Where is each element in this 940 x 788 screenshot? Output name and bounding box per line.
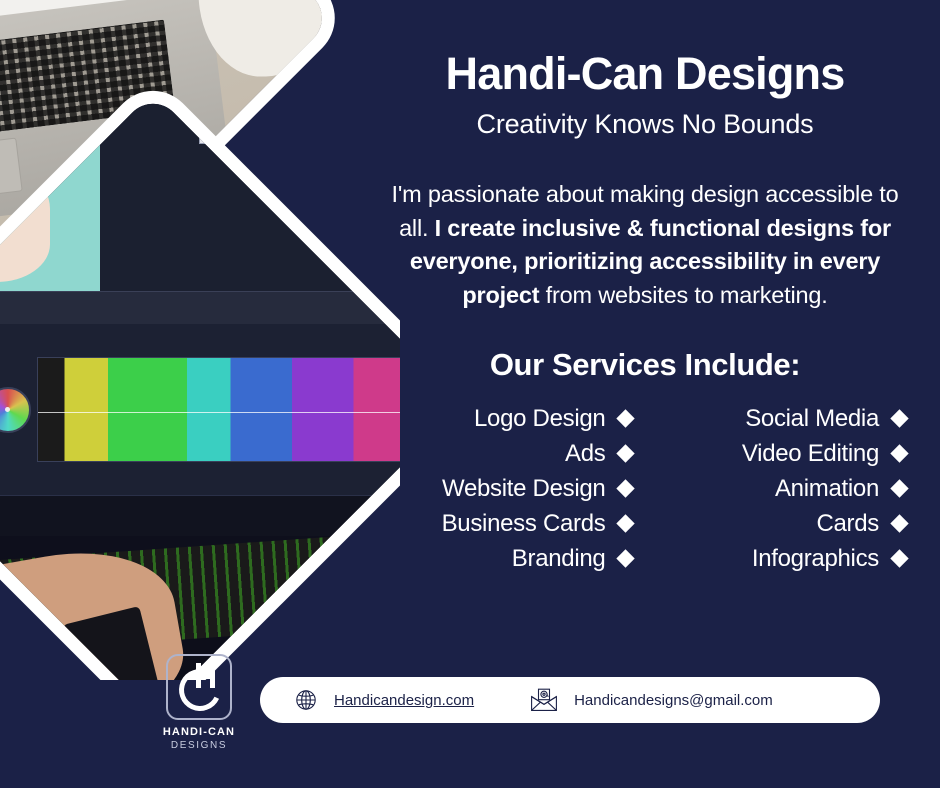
service-item: Cards: [654, 510, 906, 538]
service-item: Video Editing: [654, 440, 906, 468]
page-title: Handi-Can Designs: [380, 50, 910, 97]
service-item: Logo Design: [380, 405, 632, 433]
diamond-bullet-icon: [890, 479, 908, 497]
service-label: Website Design: [442, 475, 605, 503]
contact-website[interactable]: Handicandesign.com: [294, 688, 474, 712]
service-label: Business Cards: [442, 510, 606, 538]
service-label: Ads: [565, 440, 605, 468]
service-item: Website Design: [380, 475, 632, 503]
service-label: Cards: [816, 510, 879, 538]
service-item: Infographics: [654, 545, 906, 573]
diamond-bullet-icon: [617, 409, 635, 427]
logo-monogram-icon: [166, 654, 232, 720]
photo-collage: [0, 0, 400, 680]
diamond-bullet-icon: [890, 409, 908, 427]
service-label: Social Media: [745, 405, 879, 433]
services-right-column: Social Media Video Editing Animation Car…: [654, 405, 906, 573]
service-label: Branding: [512, 545, 606, 573]
intro-paragraph: I'm passionate about making design acces…: [390, 178, 900, 312]
service-label: Logo Design: [474, 405, 605, 433]
website-link-label[interactable]: Handicandesign.com: [334, 692, 474, 709]
diamond-bullet-icon: [617, 444, 635, 462]
services-left-column: Logo Design Ads Website Design Business …: [380, 405, 632, 573]
services-list: Logo Design Ads Website Design Business …: [380, 405, 910, 573]
poster-canvas: Handi-Can Designs Creativity Knows No Bo…: [0, 0, 940, 788]
globe-icon: [294, 688, 318, 712]
logo-subtitle: DESIGNS: [160, 740, 238, 751]
laptop-trackpad: [0, 137, 22, 208]
service-item: Branding: [380, 545, 632, 573]
logo-name: HANDI-CAN: [160, 726, 238, 738]
services-heading: Our Services Include:: [380, 347, 910, 383]
diamond-bullet-icon: [617, 549, 635, 567]
diamond-bullet-icon: [617, 479, 635, 497]
diamond-bullet-icon: [890, 514, 908, 532]
service-label: Infographics: [752, 545, 879, 573]
service-item: Animation: [654, 475, 906, 503]
mug: [198, 0, 327, 76]
service-item: Ads: [380, 440, 632, 468]
diamond-bullet-icon: [890, 444, 908, 462]
brand-tagline: Creativity Knows No Bounds: [380, 109, 910, 140]
service-label: Animation: [775, 475, 879, 503]
email-label[interactable]: Handicandesigns@gmail.com: [574, 692, 773, 709]
content-column: Handi-Can Designs Creativity Knows No Bo…: [380, 0, 910, 660]
envelope-at-icon: [530, 688, 558, 712]
brand-logo: HANDI-CAN DESIGNS: [160, 654, 238, 751]
contact-bar: Handicandesign.com Handicandesigns@gmail…: [260, 677, 880, 723]
service-label: Video Editing: [742, 440, 879, 468]
service-item: Business Cards: [380, 510, 632, 538]
service-item: Social Media: [654, 405, 906, 433]
diamond-bullet-icon: [617, 514, 635, 532]
intro-text-part2: from websites to marketing.: [539, 282, 827, 308]
color-grading-panel: [0, 324, 400, 496]
rainbow-scope: [37, 357, 400, 462]
contact-email[interactable]: Handicandesigns@gmail.com: [530, 688, 773, 712]
diamond-bullet-icon: [890, 549, 908, 567]
